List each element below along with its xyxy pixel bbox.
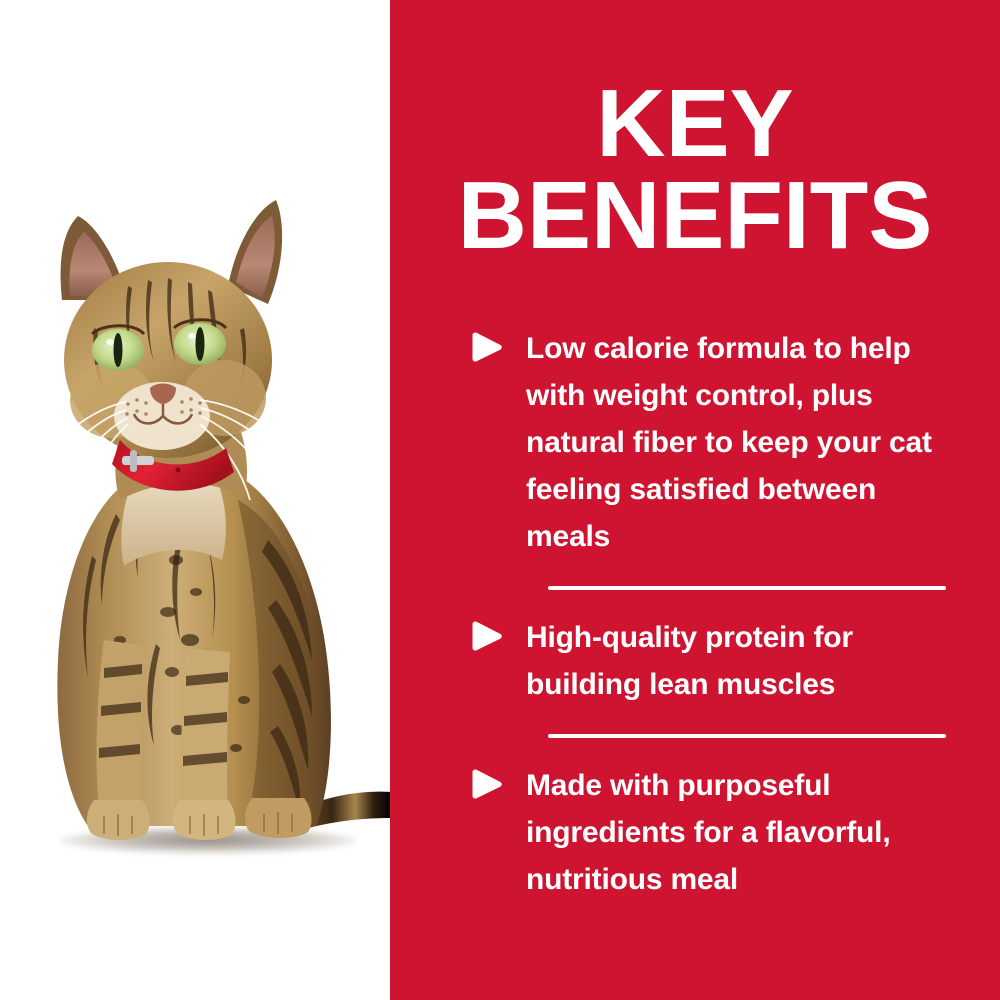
cat-illustration: [0, 0, 390, 1000]
list-item: Made with purposeful ingredients for a f…: [468, 762, 948, 903]
cat-photo-panel: [0, 0, 390, 1000]
list-item: Low calorie formula to help with weight …: [468, 325, 948, 560]
page-title-line-1: KEY: [390, 78, 1000, 170]
benefit-text: Made with purposeful ingredients for a f…: [526, 762, 948, 903]
benefit-text: Low calorie formula to help with weight …: [526, 325, 948, 560]
cat-photo: [0, 0, 390, 1000]
benefits-red-panel: KEY BENEFITS Low calorie formula to help…: [390, 0, 1000, 1000]
triangle-right-icon: [468, 621, 508, 651]
triangle-right-icon: [468, 769, 508, 799]
page-title-line-2: BENEFITS: [390, 170, 1000, 262]
benefit-divider: [548, 586, 946, 590]
list-item: High-quality protein for building lean m…: [468, 614, 948, 708]
benefit-divider: [548, 734, 946, 738]
benefit-text: High-quality protein for building lean m…: [526, 614, 948, 708]
page-title: KEY BENEFITS: [390, 78, 1000, 262]
triangle-right-icon: [468, 332, 508, 362]
benefits-list: Low calorie formula to help with weight …: [468, 325, 948, 903]
key-benefits-panel: KEY BENEFITS Low calorie formula to help…: [0, 0, 1000, 1000]
